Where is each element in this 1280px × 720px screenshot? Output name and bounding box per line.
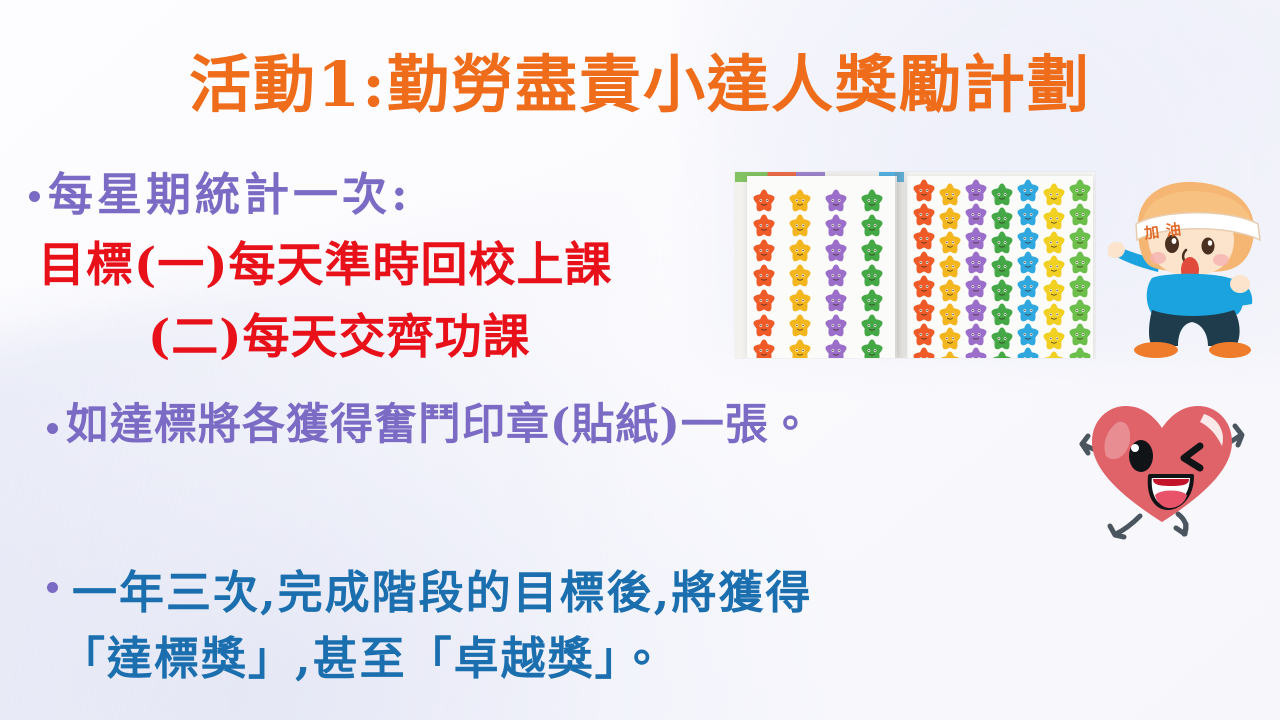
star-sticker-icon bbox=[911, 178, 937, 204]
star-sticker-icon bbox=[1041, 230, 1067, 256]
text-goal-one: 目標(一)每天準時回校上課 bbox=[38, 238, 612, 293]
star-sticker-icon bbox=[859, 313, 885, 339]
star-sticker-icon bbox=[787, 238, 813, 264]
text-goal-two: (二)每天交齊功課 bbox=[148, 310, 530, 365]
star-sticker-icon bbox=[1041, 278, 1067, 304]
star-sticker-icon bbox=[751, 238, 777, 264]
star-sticker-icon bbox=[1015, 226, 1041, 252]
star-sticker-icon bbox=[963, 202, 989, 228]
star-sticker-icon bbox=[751, 213, 777, 239]
winking-heart-svg bbox=[1058, 382, 1266, 552]
star-sticker-icon bbox=[1041, 182, 1067, 208]
star-sticker-icon bbox=[823, 238, 849, 264]
bullet-dot-annual-award bbox=[47, 582, 58, 593]
star-sticker-icon bbox=[989, 326, 1015, 352]
star-sticker-icon bbox=[1041, 206, 1067, 232]
star-sticker-icon bbox=[911, 274, 937, 300]
star-sticker-icon bbox=[911, 202, 937, 228]
star-sticker-icon bbox=[911, 250, 937, 276]
bullet-dot-weekly-count bbox=[29, 191, 40, 202]
star-sticker-grid bbox=[735, 172, 1095, 358]
star-sticker-icon bbox=[787, 338, 813, 358]
star-sticker-icon bbox=[1067, 346, 1093, 358]
bullet-dot-stamp-reward bbox=[47, 423, 58, 434]
text-weekly-count: 每星期統計一次: bbox=[48, 168, 412, 221]
star-sticker-icon bbox=[1015, 202, 1041, 228]
star-sticker-icon bbox=[787, 288, 813, 314]
star-sticker-icon bbox=[937, 254, 963, 280]
star-sticker-icon bbox=[787, 263, 813, 289]
text-stamp-reward: 如達標將各獲得奮鬥印章(貼紙)一張。 bbox=[66, 400, 813, 451]
text-annual-award-line-1: 一年三次,完成階段的目標後,將獲得 bbox=[72, 566, 812, 619]
star-sticker-icon bbox=[1067, 250, 1093, 276]
star-sticker-icon bbox=[1015, 274, 1041, 300]
star-sticker-icon bbox=[859, 338, 885, 358]
star-sticker-icon bbox=[859, 288, 885, 314]
star-sticker-icon bbox=[989, 350, 1015, 358]
cheering-kid-svg bbox=[1108, 174, 1276, 358]
star-sticker-icon bbox=[751, 263, 777, 289]
star-sticker-icon bbox=[1041, 326, 1067, 352]
star-sticker-icon bbox=[787, 313, 813, 339]
star-sticker-icon bbox=[751, 313, 777, 339]
star-sticker-icon bbox=[823, 213, 849, 239]
star-sticker-icon bbox=[937, 350, 963, 358]
star-sticker-icon bbox=[1067, 298, 1093, 324]
star-sticker-icon bbox=[911, 346, 937, 358]
star-sticker-icon bbox=[963, 226, 989, 252]
star-sticker-icon bbox=[963, 250, 989, 276]
star-sticker-icon bbox=[937, 302, 963, 328]
star-sticker-icon bbox=[937, 278, 963, 304]
star-sticker-icon bbox=[823, 188, 849, 214]
star-sticker-icon bbox=[823, 313, 849, 339]
star-sticker-icon bbox=[751, 288, 777, 314]
star-sticker-icon bbox=[1015, 250, 1041, 276]
star-sticker-icon bbox=[937, 206, 963, 232]
star-sticker-icon bbox=[859, 213, 885, 239]
star-sticker-icon bbox=[989, 230, 1015, 256]
star-sticker-icon bbox=[1067, 226, 1093, 252]
cheering-kid-illustration: 加油 bbox=[1108, 174, 1276, 358]
star-sticker-icon bbox=[1067, 322, 1093, 348]
star-sticker-icon bbox=[1015, 346, 1041, 358]
star-sticker-icon bbox=[989, 254, 1015, 280]
star-sticker-icon bbox=[989, 278, 1015, 304]
star-sticker-icon bbox=[859, 188, 885, 214]
star-sticker-icon bbox=[1067, 178, 1093, 204]
star-sticker-icon bbox=[787, 213, 813, 239]
star-sticker-icon bbox=[1015, 322, 1041, 348]
star-sticker-icon bbox=[937, 182, 963, 208]
winking-heart-mascot bbox=[1058, 382, 1266, 552]
star-sticker-icon bbox=[1015, 178, 1041, 204]
star-sticker-icon bbox=[751, 188, 777, 214]
star-sticker-icon bbox=[751, 338, 777, 358]
star-sticker-icon bbox=[937, 326, 963, 352]
star-sticker-icon bbox=[963, 298, 989, 324]
star-sticker-icon bbox=[963, 346, 989, 358]
star-sticker-icon bbox=[963, 274, 989, 300]
star-sticker-icon bbox=[859, 263, 885, 289]
star-sticker-icon bbox=[823, 338, 849, 358]
text-annual-award-line-2: 「達標獎」,甚至「卓越獎」。 bbox=[60, 632, 666, 685]
star-sticker-icon bbox=[937, 230, 963, 256]
star-sticker-icon bbox=[1067, 202, 1093, 228]
slide-title: 活動1:勤勞盡責小達人獎勵計劃 bbox=[0, 52, 1280, 117]
star-sticker-sheets-photo bbox=[735, 172, 1095, 358]
star-sticker-icon bbox=[911, 322, 937, 348]
star-sticker-icon bbox=[1041, 254, 1067, 280]
star-sticker-icon bbox=[911, 226, 937, 252]
star-sticker-icon bbox=[989, 302, 1015, 328]
star-sticker-icon bbox=[963, 322, 989, 348]
star-sticker-icon bbox=[1041, 350, 1067, 358]
star-sticker-icon bbox=[1015, 298, 1041, 324]
star-sticker-icon bbox=[823, 288, 849, 314]
star-sticker-icon bbox=[989, 182, 1015, 208]
star-sticker-icon bbox=[963, 178, 989, 204]
star-sticker-icon bbox=[1041, 302, 1067, 328]
star-sticker-icon bbox=[1067, 274, 1093, 300]
star-sticker-icon bbox=[859, 238, 885, 264]
star-sticker-icon bbox=[787, 188, 813, 214]
star-sticker-icon bbox=[823, 263, 849, 289]
star-sticker-icon bbox=[989, 206, 1015, 232]
slide-canvas: 活動1:勤勞盡責小達人獎勵計劃 每星期統計一次: 目標(一)每天準時回校上課 (… bbox=[0, 0, 1280, 720]
star-sticker-icon bbox=[911, 298, 937, 324]
